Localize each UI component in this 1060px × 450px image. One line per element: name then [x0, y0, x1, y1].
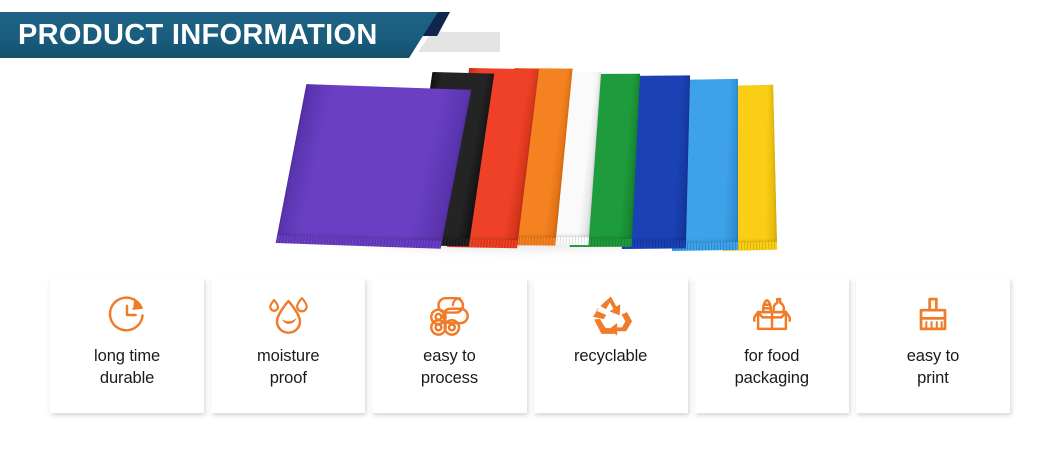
feature-card-rolls[interactable]: easy to process — [372, 278, 526, 413]
banner-body: PRODUCT INFORMATION — [0, 12, 438, 58]
feature-card-label: long time durable — [94, 346, 160, 390]
food-box-icon — [749, 291, 795, 337]
feature-card-clock-arrow[interactable]: long time durable — [50, 278, 204, 413]
recycle-icon — [588, 291, 634, 337]
feature-card-label: easy to print — [907, 346, 960, 390]
product-sheet-purple — [277, 84, 472, 242]
header-banner: PRODUCT INFORMATION — [0, 6, 500, 64]
feature-card-food-box[interactable]: for food packaging — [695, 278, 849, 413]
feature-card-water-droplet[interactable]: moisture proof — [211, 278, 365, 413]
page-title: PRODUCT INFORMATION — [0, 19, 378, 52]
feature-card-label: recyclable — [574, 346, 647, 368]
feature-card-recycle[interactable]: recyclable — [534, 278, 688, 413]
clock-arrow-icon — [104, 291, 150, 337]
rolls-icon — [426, 291, 472, 337]
product-information-page: PRODUCT INFORMATION long time durablemoi… — [0, 0, 1060, 450]
water-droplet-icon — [265, 291, 311, 337]
feature-card-paintbrush[interactable]: easy to print — [856, 278, 1010, 413]
feature-card-label: easy to process — [421, 346, 478, 390]
feature-card-label: for food packaging — [735, 346, 809, 390]
product-image — [255, 62, 795, 262]
paintbrush-icon — [910, 291, 956, 337]
sheet-face — [277, 84, 472, 242]
feature-card-label: moisture proof — [257, 346, 319, 390]
feature-card-row: long time durablemoisture proofeasy to p… — [50, 278, 1010, 413]
